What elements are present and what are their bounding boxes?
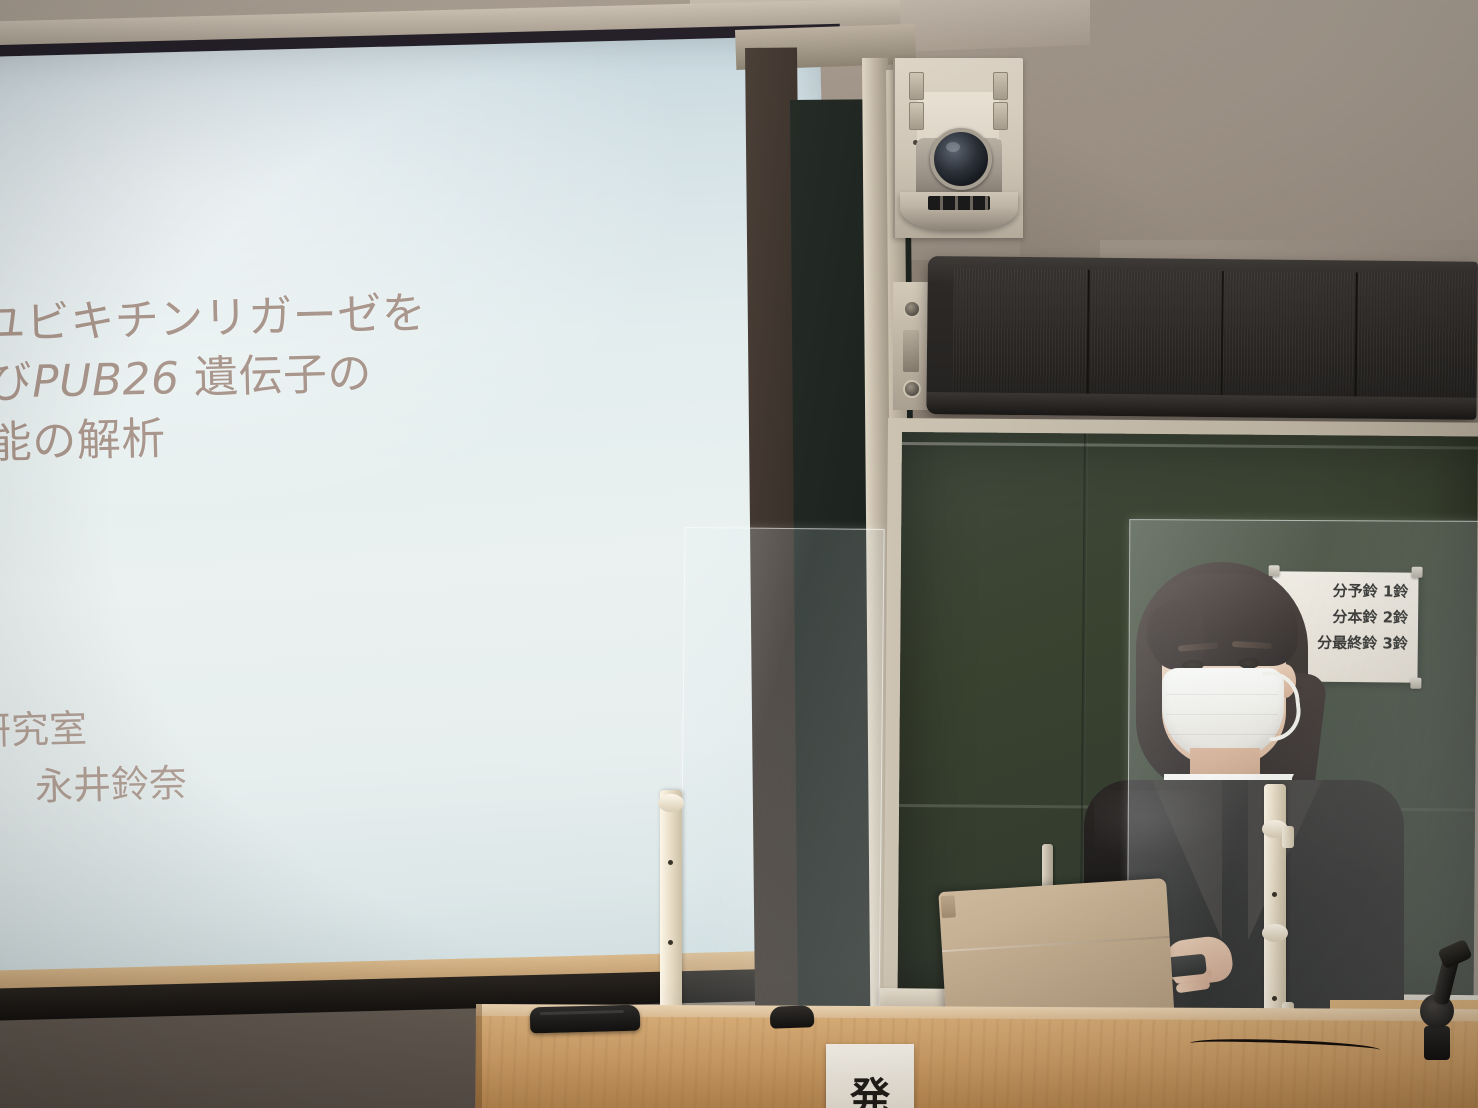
- partition-post-right-knob-2: [1262, 924, 1288, 942]
- slide-title-line-2-post: 遺伝子の: [179, 349, 373, 405]
- camera-bracket-lower-right: [993, 102, 1008, 130]
- partition-post-right-hole-2: [1272, 996, 1277, 1001]
- partition-post-right-clip-1: [1282, 826, 1294, 848]
- bag-strap: [540, 1010, 624, 1015]
- camera-vent-grille: [928, 196, 990, 210]
- mask-fold-1: [1166, 694, 1278, 695]
- sign-magnet-top-right: [1412, 567, 1423, 578]
- camera-lens-icon: [930, 128, 992, 190]
- speaker-mount-slot: [903, 330, 919, 372]
- partition-post-left-knob: [658, 794, 684, 812]
- podium-presenter-sign: 発: [826, 1044, 914, 1108]
- partition-post-right-hole-1: [1272, 892, 1277, 897]
- lecture-hall-photo: U-box型ユビキチンリガーゼを UB25 及びPUB26 遺伝子の 理学的機能…: [0, 0, 1478, 1108]
- camera-bracket-upper-left: [909, 72, 924, 100]
- mask-fold-2: [1166, 714, 1278, 715]
- partition-post-left-hole-1: [668, 860, 673, 865]
- slide-subtitle-block: 市村研究室 A098 永井鈴奈: [0, 680, 844, 819]
- speaker-grille: [953, 268, 1478, 403]
- speaker-mount-hole-bottom: [903, 380, 921, 398]
- laptop-hinge-notch: [941, 895, 956, 918]
- sign-magnet-bottom-right: [1410, 678, 1421, 689]
- microphone-base: [1424, 1026, 1450, 1060]
- slide-title-line-2-gene: PUB26: [31, 353, 180, 408]
- bag-on-desk: [530, 1005, 641, 1034]
- projection-screen: U-box型ユビキチンリガーゼを UB25 及びPUB26 遺伝子の 理学的機能…: [0, 36, 844, 1010]
- slide-title-line-2-pre: UB25 及び: [0, 357, 33, 414]
- partition-post-left-hole-2: [668, 940, 673, 945]
- ceiling-speaker-array: [926, 256, 1478, 420]
- partition-post-left: [660, 790, 682, 1032]
- speaker-mount-hole-top: [903, 300, 921, 318]
- camera-bracket-upper-right: [993, 72, 1008, 100]
- camera-lens-highlight: [946, 142, 960, 152]
- blackboard-top-rail: [902, 442, 1478, 450]
- presenter-jacket-sheen: [1094, 790, 1224, 860]
- slide-title-block: U-box型ユビキチンリガーゼを UB25 及びPUB26 遺伝子の 理学的機能…: [0, 274, 810, 477]
- blackboard-eraser: [770, 1005, 815, 1029]
- mask-fold-3: [1166, 734, 1278, 735]
- laptop-lid-seam: [942, 936, 1170, 952]
- desk-left-edge: [476, 1004, 482, 1108]
- podium-sign-character: 発: [850, 1078, 890, 1108]
- speaker-bottom-lip: [926, 392, 1476, 420]
- camera-bracket-lower-left: [909, 102, 924, 130]
